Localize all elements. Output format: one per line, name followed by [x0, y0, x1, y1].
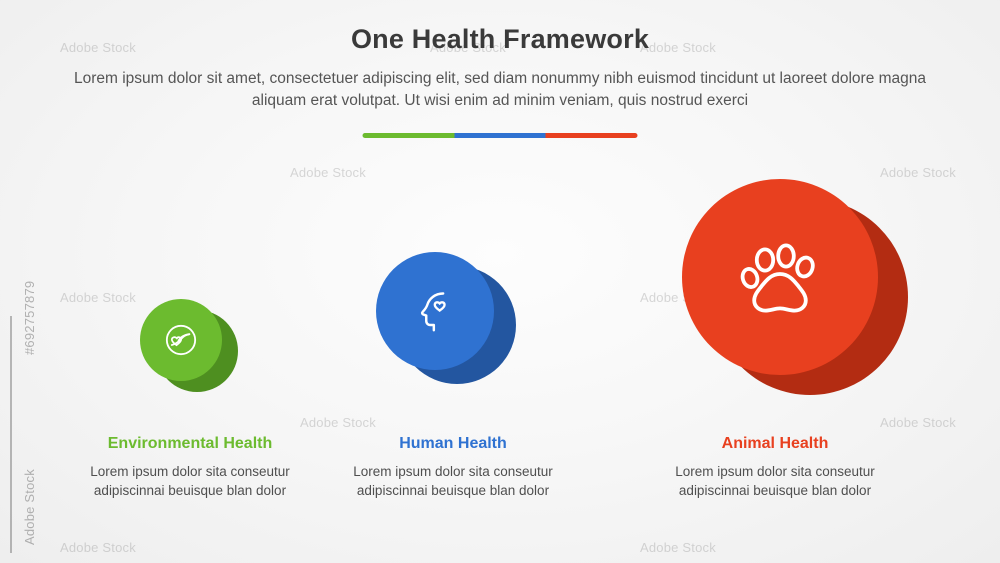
item-human-health[interactable]: Human Health Lorem ipsum dolor sita cons…: [338, 170, 568, 540]
watermark-divider: [10, 316, 12, 553]
accent-rule-segment-red: [546, 133, 638, 138]
item-title: Animal Health: [722, 435, 829, 453]
circle-animal[interactable]: [682, 179, 878, 375]
circle-human[interactable]: [376, 252, 494, 370]
item-description: Lorem ipsum dolor sita conseutur adipisc…: [660, 462, 890, 500]
item-title: Environmental Health: [108, 435, 272, 453]
accent-rule-segment-blue: [454, 133, 546, 138]
leaf-heart-icon: [161, 320, 201, 360]
paw-icon: [732, 229, 828, 325]
watermark-tile: Adobe Stock: [60, 540, 136, 555]
watermark-brand: Adobe Stock: [22, 469, 37, 545]
page-subtitle: Lorem ipsum dolor sit amet, consectetuer…: [70, 68, 930, 112]
accent-rule-segment-green: [363, 133, 455, 138]
item-description: Lorem ipsum dolor sita conseutur adipisc…: [338, 462, 568, 500]
item-environmental-health[interactable]: Environmental Health Lorem ipsum dolor s…: [75, 170, 305, 540]
watermark-tile: Adobe Stock: [880, 415, 956, 430]
item-description: Lorem ipsum dolor sita conseutur adipisc…: [75, 462, 305, 500]
item-title: Human Health: [399, 435, 507, 453]
item-animal-health[interactable]: Animal Health Lorem ipsum dolor sita con…: [660, 170, 890, 540]
watermark-tile: Adobe Stock: [640, 540, 716, 555]
watermark-tile: Adobe Stock: [880, 165, 956, 180]
head-heart-icon: [407, 283, 463, 339]
infographic-canvas: Adobe Stock Adobe Stock Adobe Stock Adob…: [0, 0, 1000, 563]
page-title: One Health Framework: [0, 24, 1000, 55]
watermark-image-id: #692757879: [22, 281, 37, 355]
accent-rule: [363, 133, 638, 138]
circle-environmental[interactable]: [140, 299, 222, 381]
